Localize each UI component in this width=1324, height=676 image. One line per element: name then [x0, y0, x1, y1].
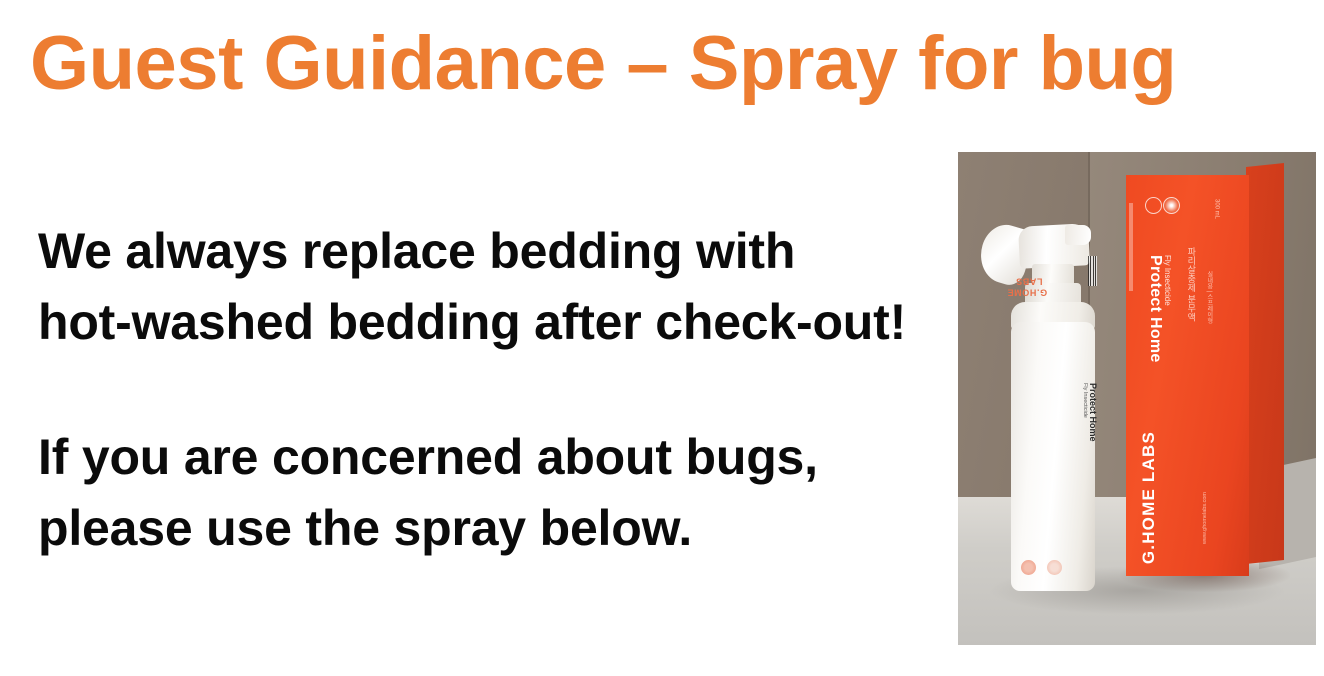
bottle-brand-label: G.HOME LABS: [1011, 275, 1047, 298]
box-korean-text: 파리살충제 분무액: [1185, 247, 1198, 322]
paragraph-1-line-1: We always replace bedding with: [38, 216, 918, 287]
box-side-strip: [1129, 203, 1133, 291]
product-photo: G.HOME LABS Protect Home Fly Insecticide…: [958, 152, 1316, 645]
paragraph-2: If you are concerned about bugs, please …: [38, 422, 918, 564]
box-front-panel: Protect Home Fly Insecticide 파리살충제 분무액 실…: [1126, 175, 1249, 576]
body-text-block: We always replace bedding with hot-washe…: [38, 216, 918, 564]
product-box: Protect Home Fly Insecticide 파리살충제 분무액 실…: [1126, 167, 1284, 576]
box-spec-text: 실내용 | 스프레이형: [1202, 271, 1213, 324]
spray-nozzle: [1065, 225, 1091, 244]
page-title: Guest Guidance – Spray for bug: [30, 26, 1270, 102]
box-brand-logo: G.HOME LABS: [1139, 431, 1159, 564]
box-product-name: Protect Home: [1146, 255, 1164, 363]
paragraph-2-line-1: If you are concerned about bugs,: [38, 422, 918, 493]
box-side-panel: [1246, 163, 1284, 564]
spray-bottle: G.HOME LABS Protect Home Fly Insecticide: [1003, 206, 1103, 591]
box-product-subtitle: Fly Insecticide: [1163, 255, 1172, 306]
box-url-text: www.ghomelabs.com: [1202, 492, 1208, 544]
bottle-product-subtitle: Fly Insecticide: [1082, 383, 1088, 418]
slide-root: Guest Guidance – Spray for bug We always…: [0, 0, 1324, 676]
paragraph-2-line-2: please use the spray below.: [38, 493, 918, 564]
paragraph-1-line-2: hot-washed bedding after check-out!: [38, 287, 918, 358]
certification-badge-icon-1: [1145, 197, 1162, 214]
certification-badge-icon-2: [1163, 197, 1180, 214]
bottle-product-name: Protect Home: [1087, 383, 1097, 442]
barcode-icon: [1088, 256, 1097, 286]
box-volume-text: 300 mL: [1213, 199, 1219, 219]
paragraph-1: We always replace bedding with hot-washe…: [38, 216, 918, 358]
bottle-body: [1011, 322, 1095, 591]
